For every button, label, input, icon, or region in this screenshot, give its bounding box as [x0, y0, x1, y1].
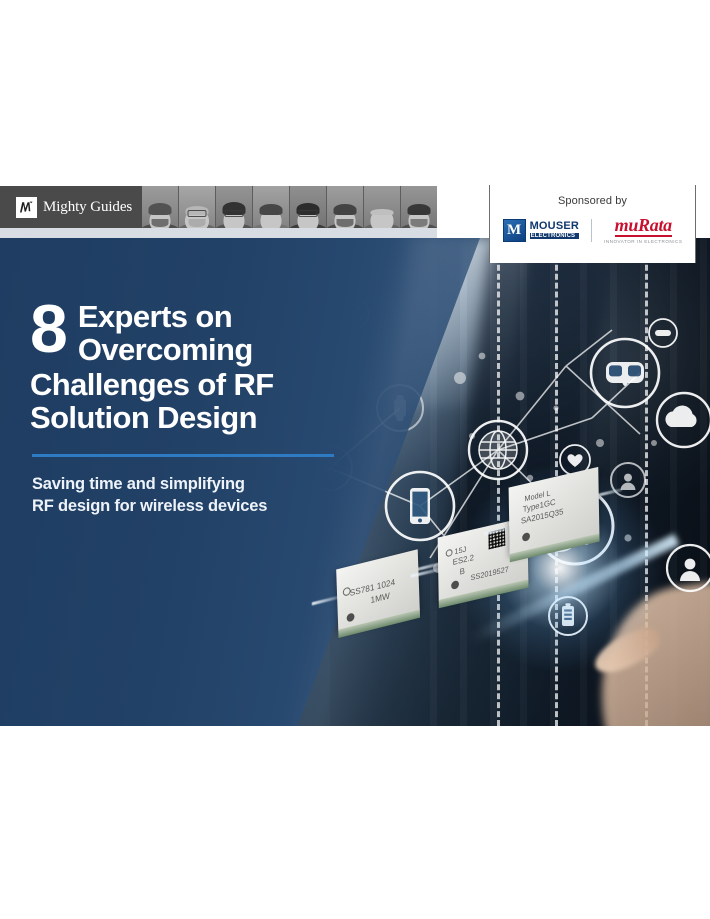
rf-module-center-polarity-icon: [446, 549, 453, 558]
expert-portrait-strip: [142, 186, 437, 228]
expert-portrait: [253, 186, 290, 228]
title-line-4: Solution Design: [30, 401, 370, 434]
expert-portrait: [142, 186, 179, 228]
expert-portrait: [216, 186, 253, 228]
expert-portrait: [290, 186, 327, 228]
expert-count: 8: [30, 300, 66, 358]
cover-artwork: 8 Experts on Overcoming Challenges of RF…: [0, 238, 710, 726]
murata-logo[interactable]: muRata INNOVATOR IN ELECTRONICS: [592, 216, 682, 244]
brand-name: Mighty Guides: [43, 199, 132, 216]
sponsor-panel: Sponsored by M MOUSER ELECTRONICS muRata…: [489, 185, 696, 263]
subtitle-line-2: RF design for wireless devices: [32, 495, 370, 517]
mouser-electronics-logo[interactable]: M MOUSER ELECTRONICS: [503, 219, 592, 242]
mouser-name: MOUSER: [530, 221, 579, 232]
rf-module-center-line3: B: [460, 566, 465, 576]
rf-module-center-line4: SS2019527: [471, 564, 509, 582]
title-lines-top: Experts on Overcoming: [78, 300, 253, 367]
mouser-mark-icon: M: [503, 219, 526, 242]
mighty-guides-logo: Mighty Guides: [0, 186, 142, 228]
title-line-1: Experts on: [78, 300, 253, 333]
title-line-3: Challenges of RF: [30, 368, 370, 401]
rf-module-left-line2: 1MW: [370, 590, 390, 605]
mouser-subtitle: ELECTRONICS: [530, 233, 579, 239]
title-line-2: Overcoming: [78, 333, 253, 366]
dashed-guide-line: [497, 238, 500, 726]
expert-portrait: [179, 186, 216, 228]
sponsored-by-label: Sponsored by: [558, 195, 627, 207]
mouser-mark-letter: M: [507, 223, 521, 238]
sponsor-logos: M MOUSER ELECTRONICS muRata INNOVATOR IN…: [503, 216, 683, 244]
mighty-guides-monogram-icon: [16, 197, 37, 218]
mouser-wordmark: MOUSER ELECTRONICS: [530, 221, 579, 239]
cover-subtitle: Saving time and simplifying RF design fo…: [32, 473, 370, 518]
murata-tagline: INNOVATOR IN ELECTRONICS: [604, 239, 682, 244]
murata-name: muRata: [615, 216, 672, 237]
ebook-cover-page: Mighty Guides: [0, 0, 710, 919]
expert-portrait: [327, 186, 364, 228]
subtitle-line-1: Saving time and simplifying: [32, 473, 370, 495]
accent-rule: [32, 454, 334, 457]
header-divider-strip: [0, 228, 437, 238]
title-first-rows: 8 Experts on Overcoming: [30, 300, 370, 367]
headline-block: 8 Experts on Overcoming Challenges of RF…: [30, 300, 370, 518]
expert-portrait: [401, 186, 437, 228]
brand-header-bar: Mighty Guides: [0, 186, 437, 228]
title-lines-bottom: Challenges of RF Solution Design: [30, 368, 370, 435]
page-bottom-margin: [0, 726, 710, 919]
expert-portrait: [364, 186, 401, 228]
